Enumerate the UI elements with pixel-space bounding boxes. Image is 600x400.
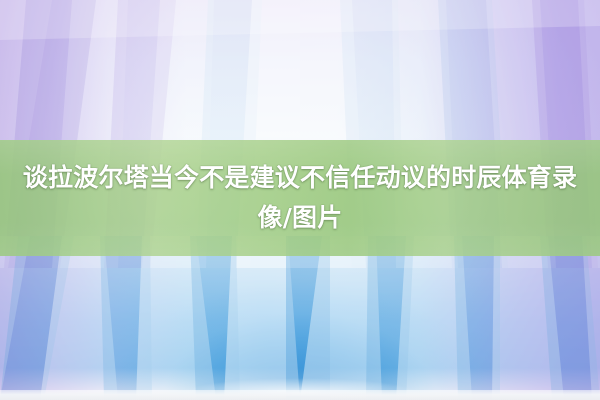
caption-text: 谈拉波尔塔当今不是建议不信任动议的时辰体育录像/图片 — [0, 158, 600, 238]
image-banner: 谈拉波尔塔当今不是建议不信任动议的时辰体育录像/图片 — [0, 0, 600, 400]
background-bottom-strip — [0, 390, 600, 400]
caption-band: 谈拉波尔塔当今不是建议不信任动议的时辰体育录像/图片 — [0, 140, 600, 256]
